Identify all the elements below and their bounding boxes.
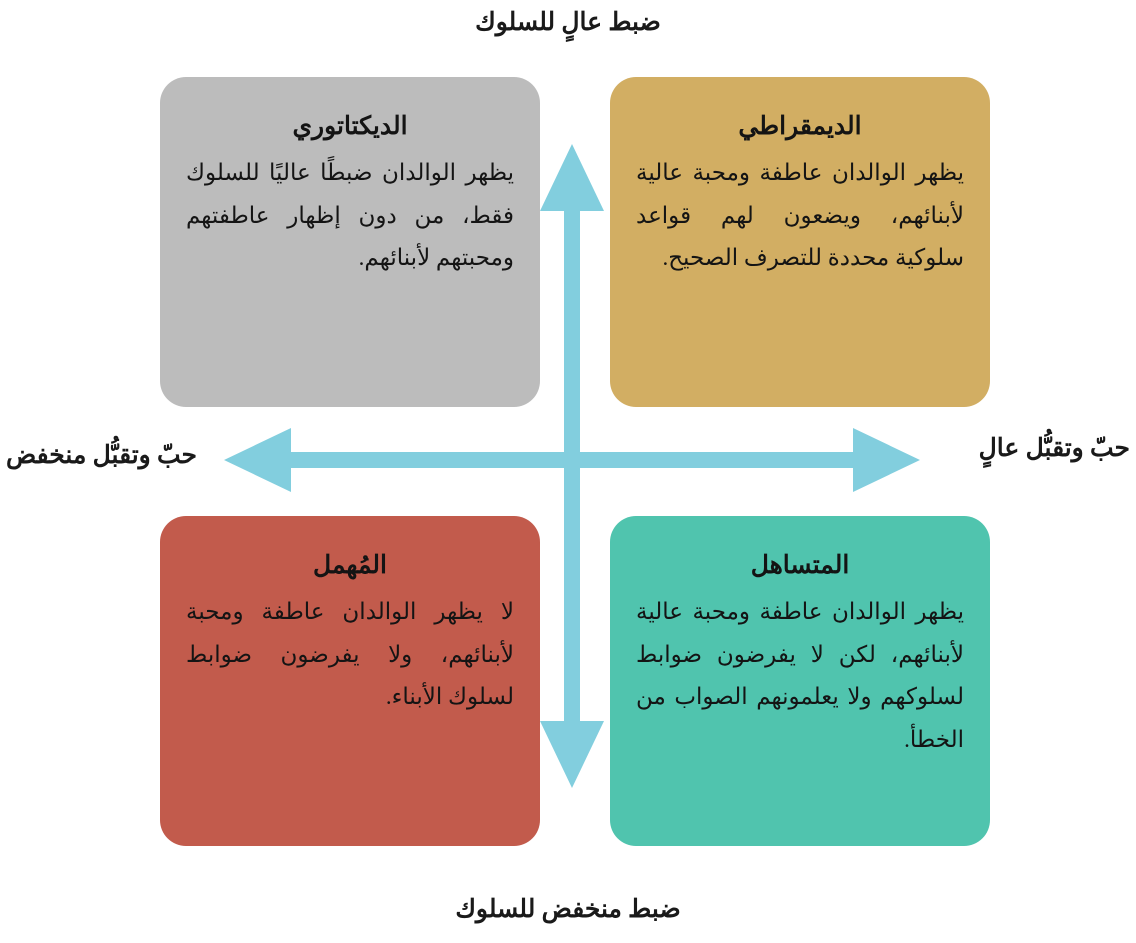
arrow-up-icon bbox=[540, 144, 604, 722]
axis-label-bottom: ضبط منخفض للسلوك bbox=[0, 895, 1136, 925]
quadrant-title-authoritarian: الديكتاتوري bbox=[186, 111, 514, 142]
quadrant-body-permissive: يظهر الوالدان عاطفة ومحبة عالية لأبنائهم… bbox=[636, 591, 964, 761]
quadrant-body-authoritative: يظهر الوالدان عاطفة ومحبة عالية لأبنائهم… bbox=[636, 152, 964, 280]
quadrant-bottom-right-permissive: المتساهل يظهر الوالدان عاطفة ومحبة عالية… bbox=[610, 516, 990, 846]
parenting-styles-quadrant-diagram: ضبط عالٍ للسلوك ضبط منخفض للسلوك حبّ وتق… bbox=[0, 0, 1136, 943]
quadrant-title-permissive: المتساهل bbox=[636, 550, 964, 581]
quadrant-body-authoritarian: يظهر الوالدان ضبطًا عاليًا للسلوك فقط، م… bbox=[186, 152, 514, 280]
axis-label-top: ضبط عالٍ للسلوك bbox=[0, 8, 1136, 38]
axis-label-left: حبّ وتقبُّل منخفض bbox=[6, 441, 197, 471]
arrow-down-icon bbox=[540, 230, 604, 788]
quadrant-title-authoritative: الديمقراطي bbox=[636, 111, 964, 142]
quadrant-title-neglectful: المُهمل bbox=[186, 550, 514, 581]
arrow-left-icon bbox=[224, 428, 855, 492]
arrow-right-icon bbox=[290, 428, 920, 492]
quadrant-top-left-authoritarian: الديكتاتوري يظهر الوالدان ضبطًا عاليًا ل… bbox=[160, 77, 540, 407]
quadrant-body-neglectful: لا يظهر الوالدان عاطفة ومحبة لأبنائهم، و… bbox=[186, 591, 514, 719]
quadrant-top-right-authoritative: الديمقراطي يظهر الوالدان عاطفة ومحبة عال… bbox=[610, 77, 990, 407]
axis-label-right: حبّ وتقبُّل عالٍ bbox=[979, 434, 1130, 464]
quadrant-bottom-left-neglectful: المُهمل لا يظهر الوالدان عاطفة ومحبة لأب… bbox=[160, 516, 540, 846]
